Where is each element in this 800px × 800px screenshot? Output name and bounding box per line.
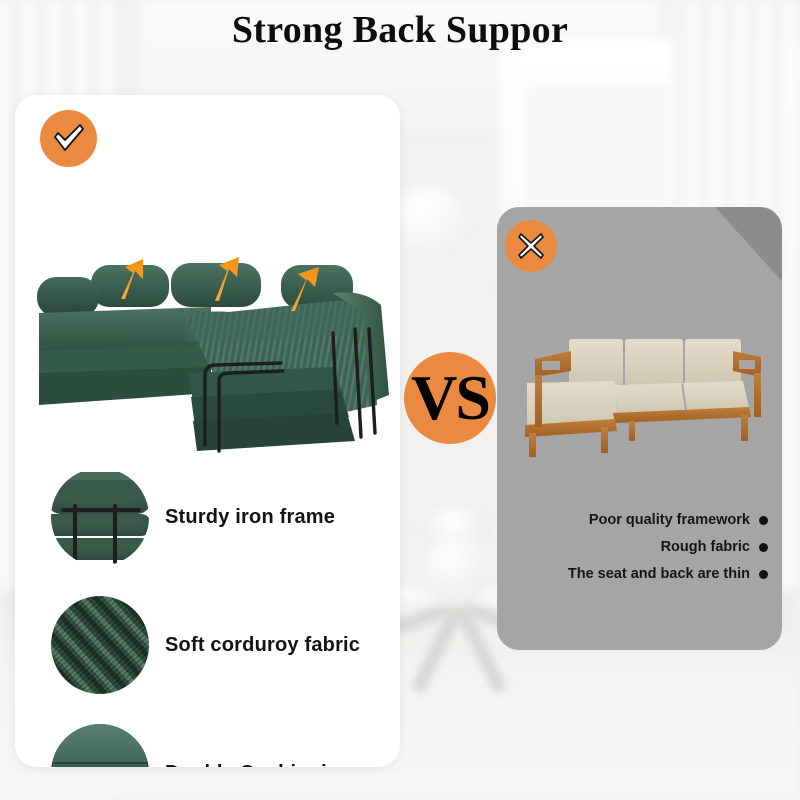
bullet-dot-icon	[759, 516, 768, 525]
con-label: The seat and back are thin	[568, 566, 750, 582]
beige-sofa-illustration	[509, 337, 777, 487]
bad-product-panel: Poor quality framework Rough fabric The …	[497, 207, 782, 650]
x-icon	[516, 231, 546, 261]
feature-row: Sturdy iron frame	[51, 467, 391, 567]
infographic-stage: Strong Back Suppor	[0, 0, 800, 800]
feature-row: Double Cushioning	[51, 723, 391, 767]
feature-row: Soft corduroy fabric	[51, 595, 391, 695]
list-item: The seat and back are thin	[568, 566, 768, 582]
bullet-dot-icon	[759, 543, 768, 552]
page-title: Strong Back Suppor	[0, 8, 800, 52]
list-item: Rough fabric	[661, 539, 768, 555]
green-sofa-illustration	[33, 255, 400, 460]
feature-label: Soft corduroy fabric	[165, 633, 360, 657]
con-label: Rough fabric	[661, 539, 750, 555]
x-badge	[505, 220, 557, 272]
check-icon	[52, 124, 86, 154]
list-item: Poor quality framework	[589, 512, 768, 528]
check-badge	[40, 110, 97, 167]
feature-label: Double Cushioning	[165, 761, 352, 767]
iron-frame-thumbnail	[51, 468, 149, 566]
vs-badge: VS	[404, 352, 496, 444]
pendant-lamp	[395, 185, 465, 251]
double-cushion-thumbnail	[51, 724, 149, 767]
vs-label: VS	[411, 366, 489, 430]
feature-label: Sturdy iron frame	[165, 505, 335, 529]
decor-vase	[425, 535, 487, 607]
con-label: Poor quality framework	[589, 512, 750, 528]
cons-list: Poor quality framework Rough fabric The …	[518, 512, 768, 582]
bullet-dot-icon	[759, 570, 768, 579]
corduroy-fabric-thumbnail	[51, 596, 149, 694]
good-product-card: Sturdy iron frame Soft corduroy fabric D…	[15, 95, 400, 767]
